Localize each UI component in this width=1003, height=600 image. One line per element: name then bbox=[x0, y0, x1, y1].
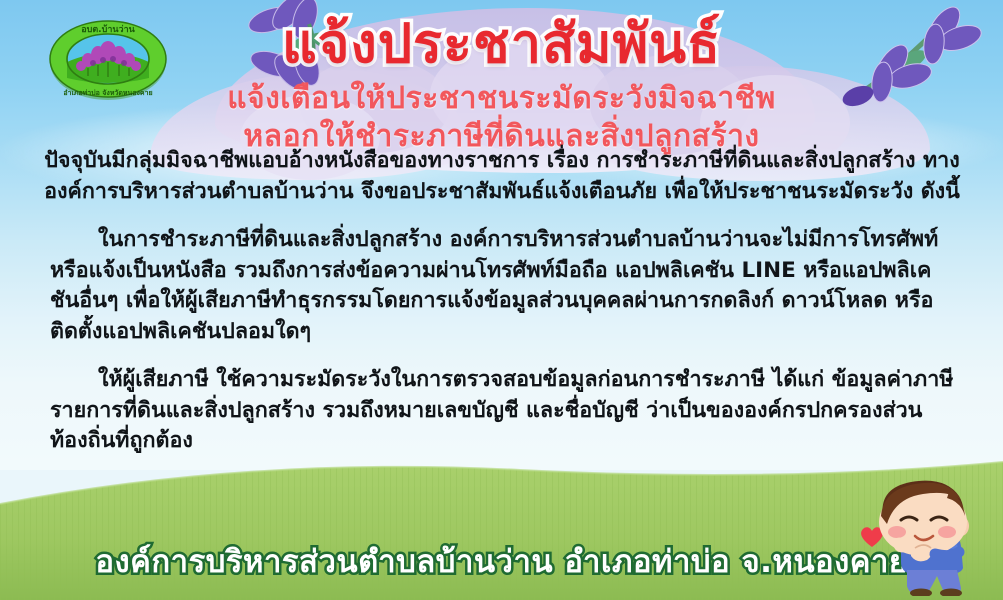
paragraph-1: ปัจจุบันมีกลุ่มมิจฉาชีพแอบอ้างหนังสือของ… bbox=[22, 146, 982, 207]
footer-organization-name: องค์การบริหารส่วนตำบลบ้านว่าน อำเภอท่าบ่… bbox=[95, 536, 907, 586]
paragraph-2: ในการชำระภาษีที่ดินและสิ่งปลูกสร้าง องค์… bbox=[22, 225, 982, 347]
body-copy: ปัจจุบันมีกลุ่มมิจฉาชีพแอบอ้างหนังสือของ… bbox=[22, 146, 982, 463]
poster-subtitle: แจ้งเตือนให้ประชาชนระมัดระวังมิจฉาชีพ หล… bbox=[0, 80, 1003, 155]
logo-top-text: อบต.บ้านว่าน bbox=[81, 24, 135, 35]
subtitle-line-1: แจ้งเตือนให้ประชาชนระมัดระวังมิจฉาชีพ bbox=[0, 80, 1003, 118]
announcement-poster: อบต.บ้านว่าน อำเภอท่าบ่อ จังหวัดหนองคาย bbox=[0, 0, 1003, 600]
thai-boy-wai-mascot bbox=[849, 476, 999, 596]
